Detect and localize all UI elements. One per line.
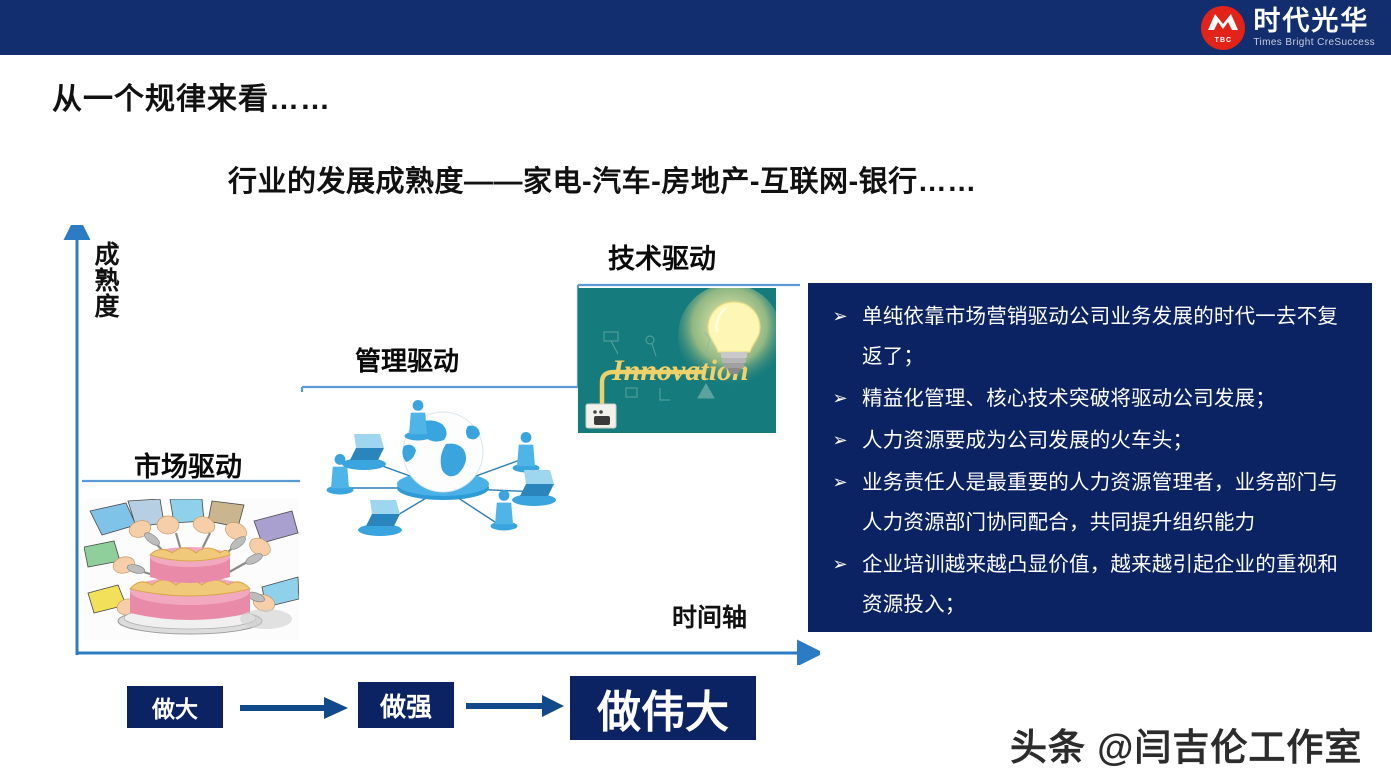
cake-illustration-graphic bbox=[84, 499, 299, 640]
globe-illustration-graphic bbox=[300, 392, 585, 542]
innovation-lightbulb-illustration: Innovation bbox=[578, 288, 776, 433]
bullet-arrow-icon: ➢ bbox=[818, 421, 862, 461]
bullet-text: 业务责任人是最重要的人力资源管理者，业务部门与人力资源部门协同配合，共同提升组织… bbox=[862, 463, 1354, 543]
bullet-arrow-icon: ➢ bbox=[818, 297, 862, 337]
key-points-panel: ➢ 单纯依靠市场营销驱动公司业务发展的时代一去不复返了； ➢ 精益化管理、核心技… bbox=[808, 283, 1372, 632]
bullet-text: 单纯依靠市场营销驱动公司业务发展的时代一去不复返了； bbox=[862, 297, 1354, 377]
bullet-item: ➢ 精益化管理、核心技术突破将驱动公司发展； bbox=[818, 379, 1354, 419]
flow-step-1: 做大 bbox=[127, 686, 223, 728]
logo-chinese-name: 时代光华 bbox=[1253, 8, 1375, 35]
flow-step-3: 做伟大 bbox=[570, 676, 756, 740]
bullet-item: ➢ 人力资源要成为公司发展的火车头； bbox=[818, 421, 1354, 461]
page-title: 从一个规律来看…… bbox=[52, 74, 331, 118]
bullet-text: 企业培训越来越凸显价值，越来越引起企业的重视和资源投入； bbox=[862, 545, 1354, 625]
logo-text-block: 时代光华 Times Bright CreSuccess bbox=[1253, 8, 1375, 48]
flow-step-2: 做强 bbox=[358, 682, 454, 728]
page-subtitle: 行业的发展成熟度——家电-汽车-房地产-互联网-银行…… bbox=[228, 158, 977, 200]
cake-and-forks-illustration bbox=[84, 499, 299, 640]
flow-arrow-1-icon bbox=[240, 692, 350, 724]
bullet-arrow-icon: ➢ bbox=[818, 463, 862, 503]
logo-m-glyph-icon bbox=[1206, 11, 1240, 31]
step-label-market: 市场驱动 bbox=[134, 445, 242, 484]
step-label-management: 管理驱动 bbox=[355, 341, 459, 378]
brand-logo: TBC 时代光华 Times Bright CreSuccess bbox=[1201, 2, 1375, 53]
bullet-text: 人力资源要成为公司发展的火车头； bbox=[862, 421, 1354, 461]
logo-english-name: Times Bright CreSuccess bbox=[1253, 38, 1375, 48]
flow-arrow-2-icon bbox=[466, 690, 566, 722]
bullet-arrow-icon: ➢ bbox=[818, 545, 862, 585]
bullet-text: 精益化管理、核心技术突破将驱动公司发展； bbox=[862, 379, 1354, 419]
slide-canvas: TBC 时代光华 Times Bright CreSuccess 从一个规律来看… bbox=[0, 0, 1391, 781]
globe-network-illustration bbox=[300, 392, 585, 542]
y-axis-label: 成熟度 bbox=[92, 243, 122, 320]
header-bar: TBC 时代光华 Times Bright CreSuccess bbox=[0, 0, 1391, 55]
bullet-arrow-icon: ➢ bbox=[818, 379, 862, 419]
bullet-item: ➢ 单纯依靠市场营销驱动公司业务发展的时代一去不复返了； bbox=[818, 297, 1354, 377]
innovation-illustration-graphic: Innovation bbox=[578, 288, 776, 433]
x-axis-label: 时间轴 bbox=[672, 598, 747, 634]
logo-mark-icon: TBC bbox=[1201, 6, 1245, 50]
watermark-text: 头条 @闫吉伦工作室 bbox=[1010, 717, 1362, 771]
logo-mark-text: TBC bbox=[1215, 37, 1232, 44]
step-label-technology: 技术驱动 bbox=[608, 237, 716, 276]
bullet-item: ➢ 企业培训越来越凸显价值，越来越引起企业的重视和资源投入； bbox=[818, 545, 1354, 625]
bullet-item: ➢ 业务责任人是最重要的人力资源管理者，业务部门与人力资源部门协同配合，共同提升… bbox=[818, 463, 1354, 543]
